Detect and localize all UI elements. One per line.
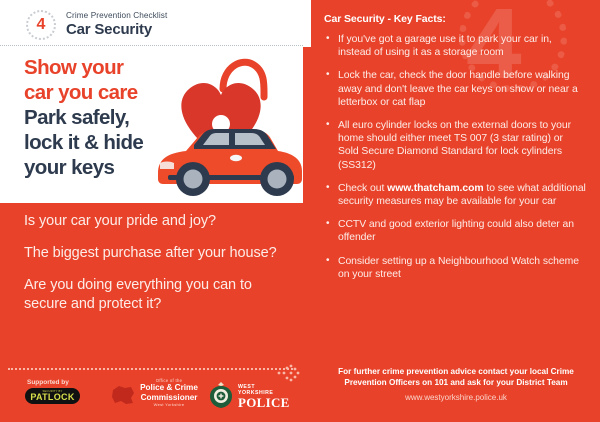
key-facts-list: If you've got a garage use it to park yo… xyxy=(324,33,586,291)
police-crest-icon xyxy=(207,381,235,409)
header-eyebrow: Crime Prevention Checklist xyxy=(66,11,167,20)
pcc-line-3: Commissioner xyxy=(138,393,200,403)
list-item: Lock the car, check the door handle befo… xyxy=(324,69,586,109)
yorkshire-map-blob-icon xyxy=(110,384,136,406)
hero-panel: Show your car you care Park safely, lock… xyxy=(0,47,303,203)
questions-block: Is your car your pride and joy? The bigg… xyxy=(24,212,292,327)
right-column: 4 Car Security - Key Facts: If you've go… xyxy=(311,0,600,422)
contact-advice-text: For further crime prevention advice cont… xyxy=(324,366,588,388)
pcc-line-4: West Yorkshire xyxy=(138,402,200,407)
header-band: 4 Crime Prevention Checklist Car Securit… xyxy=(0,0,311,47)
list-item: Consider setting up a Neighbourhood Watc… xyxy=(324,255,586,281)
wyp-line-2: POLICE xyxy=(238,396,290,409)
list-item: Check out www.thatcham.com to see what a… xyxy=(324,182,586,208)
poster-canvas: 4 Crime Prevention Checklist Car Securit… xyxy=(0,0,600,422)
website-url[interactable]: www.westyorkshire.police.uk xyxy=(324,393,588,402)
wyp-text-block: WEST YORKSHIRE POLICE xyxy=(238,384,290,409)
key-facts-title: Car Security - Key Facts: xyxy=(324,13,446,25)
pcc-text-block: Office of the Police & Crime Commissione… xyxy=(138,378,200,407)
checklist-number: 4 xyxy=(37,17,46,33)
fact-pre-text: Check out xyxy=(338,183,387,194)
police-crime-commissioner-logo: Office of the Police & Crime Commissione… xyxy=(110,378,200,413)
list-item: CCTV and good exterior lighting could al… xyxy=(324,218,586,244)
page-title: Car Security xyxy=(66,21,152,38)
footer-dotted-divider xyxy=(8,368,293,370)
supported-by-label: Supported by xyxy=(27,379,69,386)
list-item: All euro cylinder locks on the external … xyxy=(324,119,586,172)
left-column: 4 Crime Prevention Checklist Car Securit… xyxy=(0,0,311,422)
list-item: If you've got a garage use it to park yo… xyxy=(324,33,586,59)
west-yorkshire-police-logo: WEST YORKSHIRE POLICE xyxy=(207,379,289,411)
heart-padlock-car-illustration xyxy=(150,47,303,203)
question-3: Are you doing everything you can to secu… xyxy=(24,276,292,314)
thatcham-link[interactable]: www.thatcham.com xyxy=(387,183,483,194)
patlock-wordmark: PATLOCK xyxy=(30,393,74,402)
right-footer: For further crime prevention advice cont… xyxy=(324,366,588,402)
checklist-number-badge: 4 xyxy=(26,10,56,40)
question-2: The biggest purchase after your house? xyxy=(24,244,292,263)
question-1: Is your car your pride and joy? xyxy=(24,212,292,231)
pcc-line-2: Police & Crime xyxy=(138,383,200,393)
patlock-logo: SECURITY BY PATLOCK xyxy=(25,388,80,404)
header-dotted-divider xyxy=(0,45,303,46)
